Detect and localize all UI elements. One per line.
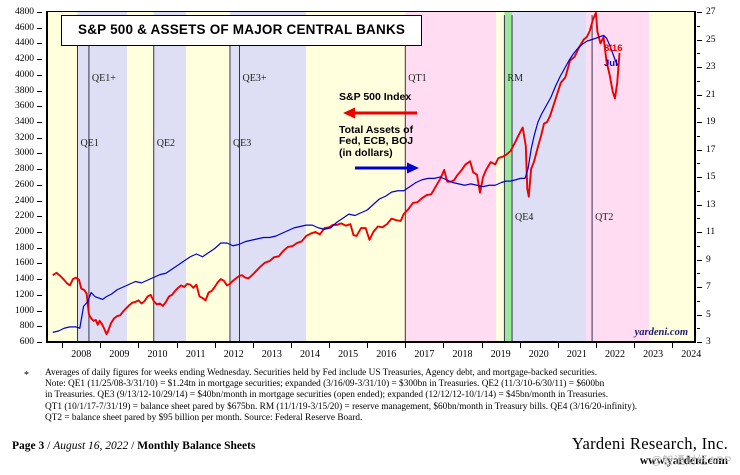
x-axis-tick-label: 2009 xyxy=(109,349,129,360)
y-right-tick-label: 19 xyxy=(706,117,716,127)
last-value-month-label: Jul xyxy=(604,58,618,69)
y-left-tick-mark xyxy=(37,201,42,202)
event-label-qe1: QE1 xyxy=(80,138,98,149)
x-axis-tick-label: 2020 xyxy=(529,349,549,360)
y-left-tick-label: 3400 xyxy=(15,117,34,127)
x-axis-tick-label: 2014 xyxy=(300,349,320,360)
y-left-tick-mark xyxy=(37,106,42,107)
x-axis-tick-label: 2013 xyxy=(262,349,282,360)
y-left-tick-mark xyxy=(37,295,42,296)
y-left-tick-label: 1600 xyxy=(15,258,34,268)
y-left-tick-label: 4600 xyxy=(15,23,34,33)
event-label-qe3: QE3 xyxy=(233,138,251,149)
y-right-tick-mark xyxy=(697,328,700,329)
y-right-tick-label: 11 xyxy=(706,227,715,237)
x-axis-tick-mark xyxy=(215,343,216,348)
x-axis-tick-mark xyxy=(138,343,139,348)
y-left-tick-mark xyxy=(37,279,42,280)
y-right-tick-mark xyxy=(697,67,702,68)
y-left-tick-mark xyxy=(37,248,42,249)
y-left-tick-mark xyxy=(37,216,42,217)
event-label-qe2: QE2 xyxy=(157,138,175,149)
x-axis-tick-label: 2008 xyxy=(71,349,91,360)
x-axis-tick-label: 2016 xyxy=(376,349,396,360)
y-left-tick-label: 4000 xyxy=(15,70,34,80)
y-right-tick-label: 5 xyxy=(706,310,711,320)
y-right-tick-label: 7 xyxy=(706,282,711,292)
y-right-tick-mark xyxy=(697,40,702,41)
report-title: Monthly Balance Sheets xyxy=(137,440,255,452)
event-label-qe4: QE4 xyxy=(515,212,533,223)
y-left-tick-label: 4200 xyxy=(15,54,34,64)
y-left-tick-mark xyxy=(37,185,42,186)
y-right-tick-mark xyxy=(697,163,700,164)
y-left-tick-label: 2800 xyxy=(15,164,34,174)
x-axis-tick-mark xyxy=(672,343,673,348)
y-right-tick-mark xyxy=(697,342,702,343)
y-left-tick-mark xyxy=(37,28,42,29)
y-left-tick-mark xyxy=(37,138,42,139)
y-left-tick-mark xyxy=(37,311,42,312)
x-axis-tick-label: 2010 xyxy=(148,349,168,360)
y-right-tick-label: 25 xyxy=(706,35,716,45)
x-axis-tick-label: 2023 xyxy=(643,349,663,360)
y-right-tick-mark xyxy=(697,232,702,233)
y-right-tick-label: 9 xyxy=(706,255,711,265)
x-axis-tick-mark xyxy=(62,343,63,348)
legend-sp500-arrow-icon xyxy=(339,106,421,120)
y-right-tick-mark xyxy=(697,301,700,302)
y-right-tick-label: 17 xyxy=(706,145,716,155)
page-number: Page 3 xyxy=(12,440,44,452)
y-left-tick-mark xyxy=(37,326,42,327)
y-axis-right-ticks: 3579111315171921232527 xyxy=(697,12,740,342)
footnote-line-5: QT2 = balance sheet pared by $95 billion… xyxy=(45,413,724,424)
y-left-tick-mark xyxy=(37,342,42,343)
y-left-tick-label: 3600 xyxy=(15,101,34,111)
chart-footnote: * Averages of daily figures for weeks en… xyxy=(24,368,724,424)
x-axis-tick-mark xyxy=(596,343,597,348)
y-left-tick-mark xyxy=(37,169,42,170)
footnote-asterisk: * xyxy=(24,370,29,381)
x-axis-tick-mark xyxy=(253,343,254,348)
y-right-tick-mark xyxy=(697,122,702,123)
x-axis-tick-mark xyxy=(634,343,635,348)
legend-assets-arrow-icon xyxy=(339,161,421,175)
y-right-tick-mark xyxy=(697,108,700,109)
y-right-tick-label: 3 xyxy=(706,337,711,347)
y-left-tick-label: 3000 xyxy=(15,148,34,158)
y-right-tick-mark xyxy=(697,315,702,316)
event-label-qt1: QT1 xyxy=(408,73,426,84)
y-axis-left-ticks: 6008001000120014001600180020002200240026… xyxy=(0,12,42,342)
last-value-date-label: 8/16 xyxy=(604,43,623,54)
x-axis-tick-label: 2019 xyxy=(491,349,511,360)
y-left-tick-label: 1400 xyxy=(15,274,34,284)
y-right-tick-mark xyxy=(697,177,702,178)
x-axis-tick-label: 2017 xyxy=(414,349,434,360)
x-axis-tick-mark xyxy=(520,343,521,348)
y-left-tick-label: 2000 xyxy=(15,227,34,237)
x-axis-tick-mark xyxy=(291,343,292,348)
y-left-tick-mark xyxy=(37,232,42,233)
y-right-tick-mark xyxy=(697,53,700,54)
x-axis-tick-mark xyxy=(329,343,330,348)
publisher-name: Yardeni Research, Inc. xyxy=(572,434,728,454)
footnote-line-3: in Treasuries. QE3 (9/13/12-10/29/14) = … xyxy=(45,390,724,401)
y-right-tick-mark xyxy=(697,246,700,247)
x-axis-tick-label: 2015 xyxy=(338,349,358,360)
chart-title: S&P 500 & ASSETS OF MAJOR CENTRAL BANKS xyxy=(78,22,405,37)
y-left-tick-label: 3200 xyxy=(15,133,34,143)
y-left-tick-label: 4400 xyxy=(15,38,34,48)
x-axis-tick-label: 2022 xyxy=(605,349,625,360)
event-label-qe1plus: QE1+ xyxy=(92,73,116,84)
y-right-tick-mark xyxy=(697,191,700,192)
y-right-tick-label: 15 xyxy=(706,172,716,182)
y-left-tick-mark xyxy=(37,43,42,44)
y-left-tick-label: 600 xyxy=(20,337,34,347)
x-axis-tick-mark xyxy=(100,343,101,348)
x-axis-tick-mark xyxy=(405,343,406,348)
y-left-tick-mark xyxy=(37,122,42,123)
x-axis-tick-mark xyxy=(177,343,178,348)
y-left-tick-label: 4800 xyxy=(15,7,34,17)
y-right-tick-mark xyxy=(697,273,700,274)
y-left-tick-mark xyxy=(37,91,42,92)
y-right-tick-mark xyxy=(697,205,702,206)
footer-separator-2: / xyxy=(128,440,137,452)
footnote-line-2: Note: QE1 (11/25/08-3/31/10) = $1.24tn i… xyxy=(45,379,724,390)
y-left-tick-mark xyxy=(37,263,42,264)
y-right-tick-mark xyxy=(697,81,700,82)
footer-separator-1: / xyxy=(44,440,53,452)
x-axis-tick-mark xyxy=(482,343,483,348)
y-left-tick-mark xyxy=(37,12,42,13)
footnote-line-1: Averages of daily figures for weeks endi… xyxy=(45,368,724,379)
footnote-line-4: QT1 (10/1/17-7/31/19) = balance sheet pa… xyxy=(45,402,724,413)
legend-assets-label-3: (in dollars) xyxy=(339,148,421,160)
y-left-tick-label: 3800 xyxy=(15,86,34,96)
y-right-tick-mark xyxy=(697,218,700,219)
event-label-rm: RM xyxy=(507,73,523,84)
y-right-tick-mark xyxy=(697,26,700,27)
event-annotations: QE1QE1+QE2QE3QE3+QT1RMQE4QT2 xyxy=(47,12,695,342)
y-left-tick-label: 1000 xyxy=(15,306,34,316)
y-right-tick-label: 27 xyxy=(706,7,716,17)
y-left-tick-mark xyxy=(37,59,42,60)
y-left-tick-label: 800 xyxy=(20,321,34,331)
event-label-qe3plus: QE3+ xyxy=(242,73,266,84)
y-left-tick-label: 2600 xyxy=(15,180,34,190)
image-watermark: @智通财经APP xyxy=(651,452,732,468)
page-footer-left: Page 3 / August 16, 2022 / Monthly Balan… xyxy=(12,440,255,452)
x-axis-tick-label: 2024 xyxy=(681,349,701,360)
x-axis-tick-label: 2021 xyxy=(567,349,587,360)
y-left-tick-label: 2400 xyxy=(15,196,34,206)
report-date: August 16, 2022 xyxy=(53,440,128,452)
y-right-tick-label: 13 xyxy=(706,200,716,210)
y-right-tick-label: 23 xyxy=(706,62,716,72)
y-left-tick-mark xyxy=(37,153,42,154)
y-right-tick-mark xyxy=(697,260,702,261)
y-left-tick-mark xyxy=(37,75,42,76)
y-left-tick-label: 2200 xyxy=(15,211,34,221)
x-axis-tick-label: 2018 xyxy=(452,349,472,360)
y-right-tick-mark xyxy=(697,136,700,137)
event-label-qt2: QT2 xyxy=(595,212,613,223)
y-left-tick-label: 1200 xyxy=(15,290,34,300)
x-axis-tick-mark xyxy=(558,343,559,348)
legend-sp500-label: S&P 500 Index xyxy=(339,92,421,104)
legend-assets-label-2: Fed, ECB, BOJ xyxy=(339,136,421,148)
chart-title-box: S&P 500 & ASSETS OF MAJOR CENTRAL BANKS xyxy=(61,15,422,46)
y-right-tick-mark xyxy=(697,12,702,13)
y-right-tick-mark xyxy=(697,287,702,288)
x-axis-tick-mark xyxy=(443,343,444,348)
y-right-tick-mark xyxy=(697,95,702,96)
chart-container: 6008001000120014001600180020002200240026… xyxy=(47,12,695,342)
x-axis-tick-mark xyxy=(367,343,368,348)
x-axis-tick-label: 2012 xyxy=(224,349,244,360)
chart-legend: S&P 500 Index Total Assets of Fed, ECB, … xyxy=(339,92,421,175)
y-right-tick-label: 21 xyxy=(706,90,716,100)
y-right-tick-mark xyxy=(697,150,702,151)
x-axis-tick-label: 2011 xyxy=(186,349,206,360)
y-left-tick-label: 1800 xyxy=(15,243,34,253)
plot-source-watermark: yardeni.com xyxy=(635,327,688,338)
